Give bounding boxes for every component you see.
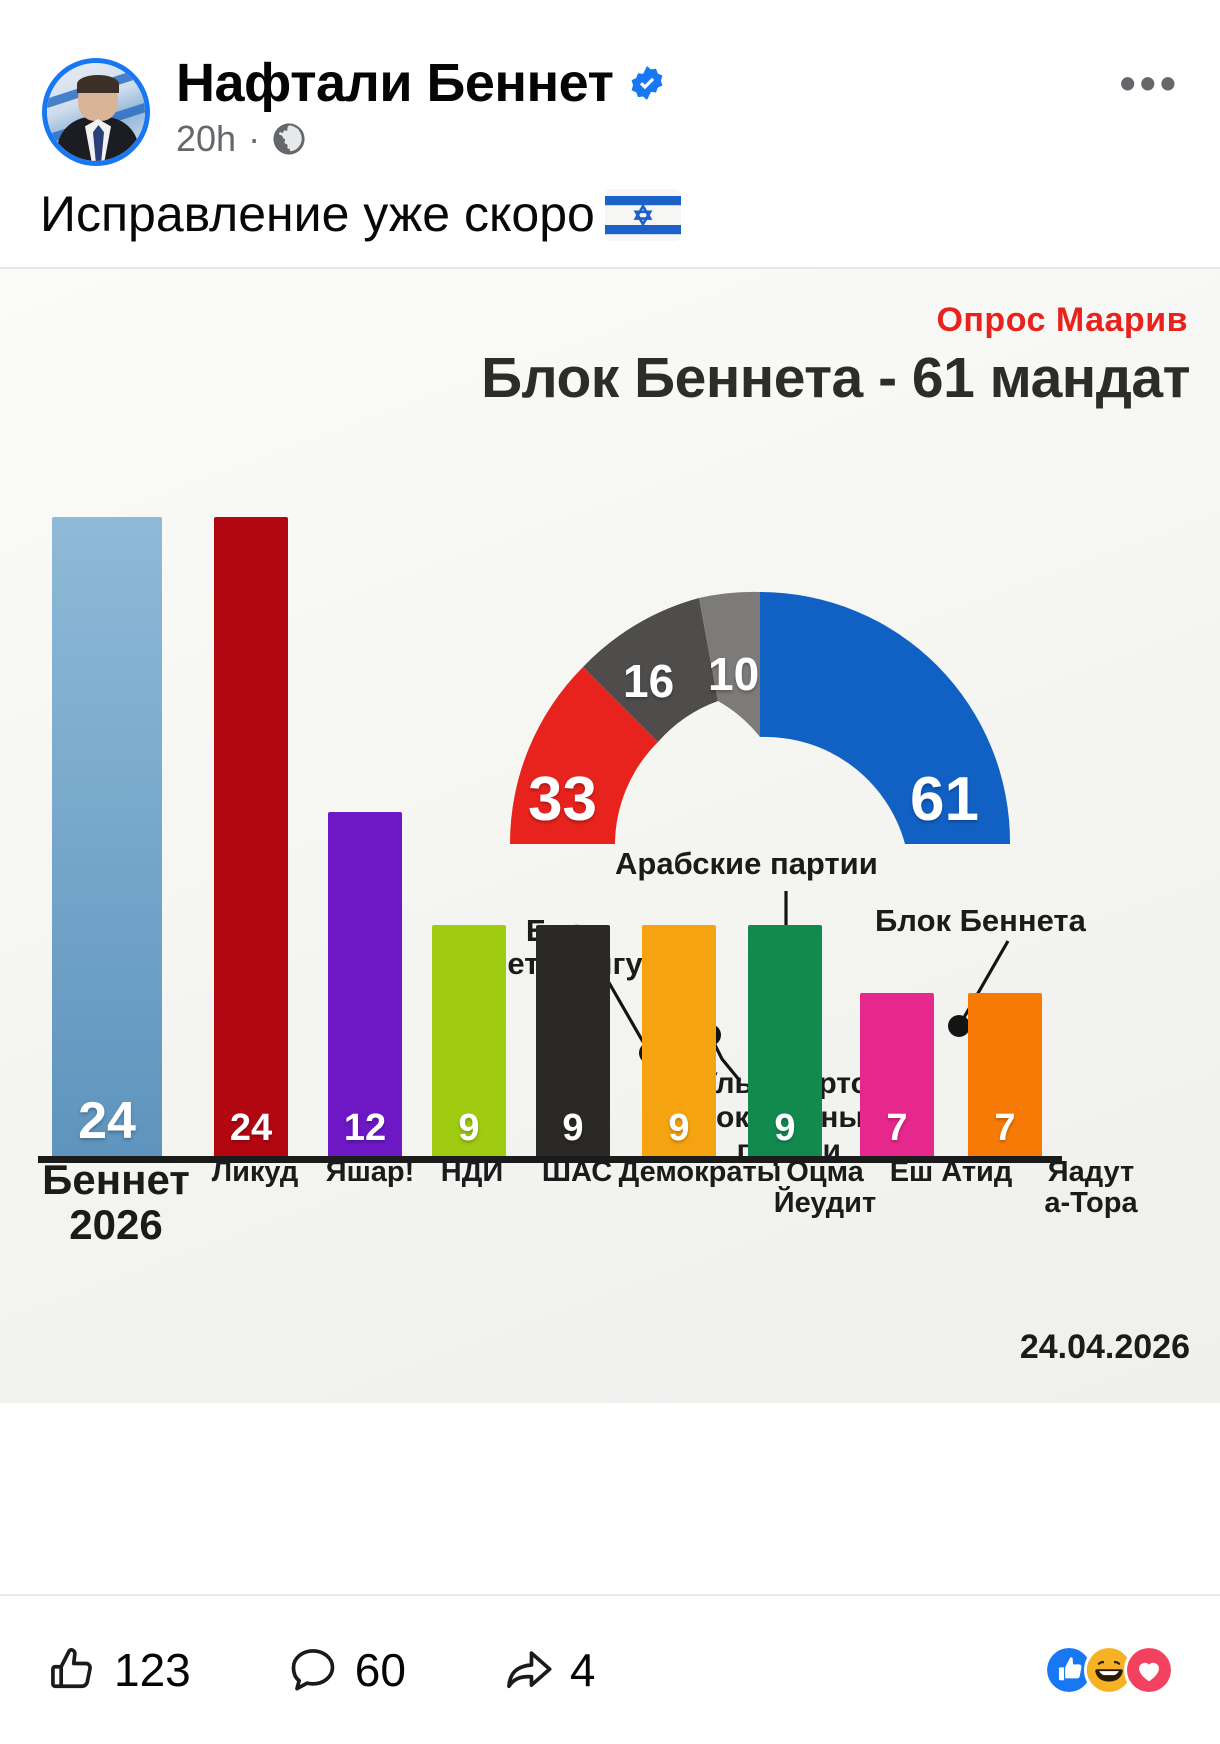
like-action[interactable]: 123 <box>46 1643 191 1697</box>
xlabel-line1: Оцма <box>760 1157 890 1188</box>
bar-democrats: 9 <box>642 925 716 1157</box>
author-block: Нафтали Беннет 20h · <box>176 48 1110 160</box>
post-text-content: Исправление уже скоро <box>40 184 595 245</box>
share-arrow-icon[interactable] <box>502 1644 554 1696</box>
post-options-button[interactable]: ••• <box>1110 66 1190 101</box>
bar-column: 9 <box>432 925 506 1157</box>
israel-flag-emoji <box>605 187 681 243</box>
bar-likud: 24 <box>214 517 288 1157</box>
bar-otzma: 9 <box>748 925 822 1157</box>
bar-shas: 9 <box>536 925 610 1157</box>
bar-column: 9 <box>642 925 716 1157</box>
bar-value: 9 <box>668 1109 689 1157</box>
post-header: Нафтали Беннет 20h · ••• <box>0 0 1220 180</box>
comment-action[interactable]: 60 <box>287 1643 406 1697</box>
bar-yashar: 12 <box>328 812 402 1157</box>
xlabel-line2: 2026 <box>36 1202 196 1247</box>
verified-badge-icon <box>629 65 665 101</box>
author-name[interactable]: Нафтали Беннет <box>176 54 613 112</box>
like-count: 123 <box>114 1643 191 1697</box>
meta-separator: · <box>248 121 260 157</box>
facebook-post: Нафтали Беннет 20h · ••• Исправление уже… <box>0 0 1220 1744</box>
bar-column: 9 <box>748 925 822 1157</box>
globe-public-icon[interactable] <box>272 122 306 156</box>
post-text: Исправление уже скоро <box>0 180 1220 267</box>
comment-bubble-icon[interactable] <box>287 1644 339 1696</box>
poll-infographic: Опрос Маарив Блок Беннета - 61 мандат 33… <box>0 267 1220 1403</box>
share-count: 4 <box>570 1643 596 1697</box>
xlabel-line1: Беннет <box>36 1157 196 1202</box>
avatar-hair <box>77 75 119 93</box>
poll-date: 24.04.2026 <box>1020 1328 1190 1367</box>
share-action[interactable]: 4 <box>502 1643 596 1697</box>
xlabel-bennet: Беннет 2026 <box>36 1157 196 1248</box>
xlabel-yahadut: Яадут а-Тора <box>1016 1157 1166 1220</box>
seats-bar-chart: 24 24 12 9 9 <box>42 517 1062 1157</box>
thumbs-up-icon[interactable] <box>46 1644 98 1696</box>
xlabel-line2: а-Тора <box>1016 1188 1166 1219</box>
xlabel-line1: Яадут <box>1016 1157 1166 1188</box>
reaction-icons-group[interactable] <box>1044 1645 1174 1695</box>
bar-value: 24 <box>230 1109 272 1157</box>
post-meta: 20h · <box>176 118 1110 160</box>
bar-column: 24 <box>52 517 162 1157</box>
xlabel-line2: Йеудит <box>760 1188 890 1219</box>
bar-yahadut-hatorah: 7 <box>968 993 1042 1157</box>
bar-bennet: 24 <box>52 517 162 1157</box>
comment-count: 60 <box>355 1643 406 1697</box>
xlabel-likud: Ликуд <box>190 1157 320 1188</box>
bar-yesh-atid: 7 <box>860 993 934 1157</box>
bar-column: 7 <box>968 993 1042 1157</box>
bar-value: 9 <box>458 1109 479 1157</box>
poll-title: Блок Беннета - 61 мандат <box>481 345 1190 411</box>
love-reaction-icon[interactable] <box>1124 1645 1174 1695</box>
bar-value: 12 <box>344 1109 386 1157</box>
xlabel-otzma: Оцма Йеудит <box>760 1157 890 1220</box>
bar-ndi: 9 <box>432 925 506 1157</box>
bar-value: 7 <box>994 1109 1015 1157</box>
author-name-row: Нафтали Беннет <box>176 54 1110 112</box>
bar-column: 24 <box>214 517 288 1157</box>
bar-value: 9 <box>562 1109 583 1157</box>
x-axis-labels: Беннет 2026 Ликуд Яшар! НДИ ШАС Демократ… <box>0 1157 1220 1253</box>
post-actions-bar: 123 60 4 <box>0 1594 1220 1744</box>
bar-value: 24 <box>78 1095 136 1157</box>
avatar-image <box>47 63 145 161</box>
bar-value: 9 <box>774 1109 795 1157</box>
bar-column: 9 <box>536 925 610 1157</box>
bar-column: 7 <box>860 993 934 1157</box>
xlabel-yesh-atid: Еш Атид <box>876 1157 1026 1188</box>
bar-value: 7 <box>886 1109 907 1157</box>
avatar[interactable] <box>42 58 150 166</box>
post-timestamp[interactable]: 20h <box>176 118 236 160</box>
poll-source-label: Опрос Маарив <box>936 301 1188 340</box>
bar-column: 12 <box>328 812 402 1157</box>
